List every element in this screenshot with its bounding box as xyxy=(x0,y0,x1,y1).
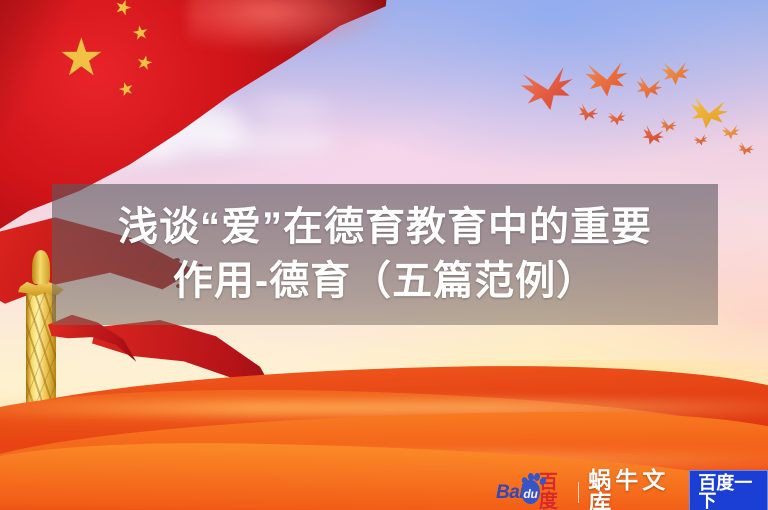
baidu-latin-text: Bai xyxy=(496,483,524,502)
baidu-paw-icon: du xyxy=(521,480,540,504)
paw-toes xyxy=(521,473,545,484)
poster-image: ★ ★ ★ ★ ★ xyxy=(0,0,768,510)
page-title-line-2: 作用-德育（五篇范例） xyxy=(173,256,597,307)
baidu-search-button[interactable]: 百度一下 xyxy=(689,470,768,510)
bird-icon xyxy=(634,74,663,101)
watermark-divider xyxy=(578,482,580,503)
site-brand-label: 蜗牛文库 xyxy=(588,469,679,510)
bird-icon xyxy=(737,140,756,157)
page-title-line-1: 浅谈“爱”在德育教育中的重要 xyxy=(118,202,652,253)
baidu-logo[interactable]: Bai du 百度 xyxy=(496,479,569,505)
watermark-bar: Bai du 百度 蜗牛文库 百度一下 xyxy=(496,478,768,506)
column-cap xyxy=(32,250,50,284)
bird-icon xyxy=(584,58,630,100)
bird-icon xyxy=(721,123,741,141)
flag-highlight xyxy=(188,0,390,52)
baidu-badge-text: du xyxy=(523,488,537,504)
title-overlay-band: 浅谈“爱”在德育教育中的重要 作用-德育（五篇范例） xyxy=(52,184,718,325)
flag-star-small-2: ★ xyxy=(130,23,150,45)
flag-star-large: ★ xyxy=(58,32,105,84)
bird-icon xyxy=(661,59,691,87)
bird-icon xyxy=(607,109,627,127)
